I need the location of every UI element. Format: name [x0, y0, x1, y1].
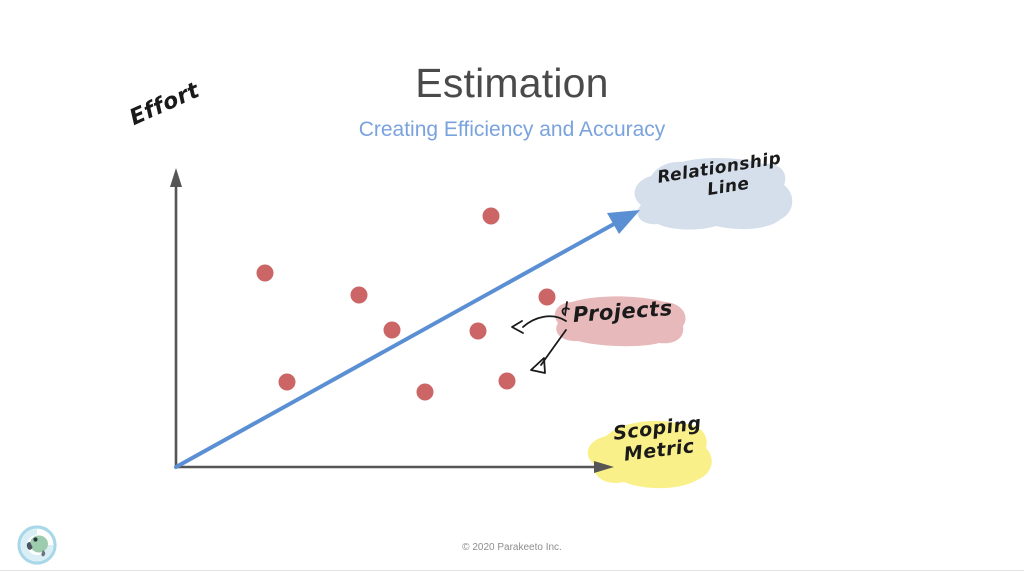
- data-point: [384, 322, 401, 339]
- data-point: [483, 208, 500, 225]
- bottom-divider: [0, 570, 1024, 571]
- data-point: [279, 374, 296, 391]
- data-point: [499, 373, 516, 390]
- data-point: [539, 289, 556, 306]
- relationship-line-arrowhead: [607, 210, 640, 234]
- scatter-chart: [0, 0, 1024, 575]
- projects-pointer-arrowhead-down: [531, 358, 545, 373]
- y-axis-arrowhead: [170, 168, 182, 187]
- projects-pointer-arrowhead-left: [512, 321, 523, 333]
- data-point: [257, 265, 274, 282]
- parakeeto-bird-logo: [17, 525, 57, 565]
- data-point: [351, 287, 368, 304]
- data-point: [470, 323, 487, 340]
- slide-canvas: Estimation Creating Efficiency and Accur…: [0, 0, 1024, 575]
- data-point: [417, 384, 434, 401]
- copyright-text: © 2020 Parakeeto Inc.: [0, 542, 1024, 553]
- scatter-points: [257, 208, 556, 401]
